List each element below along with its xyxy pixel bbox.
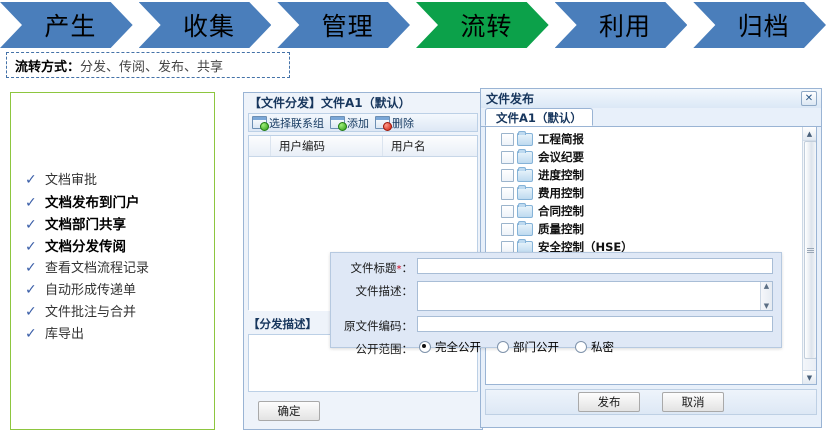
scope-option-部门公开[interactable]: 部门公开 [497, 339, 559, 355]
file-info-form-dialog: 文件标题*： 文件描述： ▲ ▼ 原文件编码： 公开范围： 完全公开部门公开私密 [330, 252, 782, 348]
toolbar-选择联系组[interactable]: 选择联系组 [252, 115, 324, 131]
tree-node[interactable]: 合同控制 [490, 202, 816, 220]
process-step-label: 利用 [599, 7, 651, 43]
file-title-label-text: 文件标题 [351, 261, 397, 275]
user-table-header-username: 用户名 [383, 136, 477, 156]
toolbar-label: 添加 [347, 115, 369, 131]
close-icon[interactable]: ✕ [801, 91, 817, 106]
flow-method-title: 流转方式： [15, 56, 80, 75]
folder-icon [517, 223, 533, 236]
toolbar-label: 删除 [392, 115, 414, 131]
checklist-item-label: 文档分发传阅 [45, 235, 126, 255]
screenshot-root: 产生收集管理流转利用归档 流转方式：分发、传阅、发布、共享 ✓文档审批✓文档发布… [0, 0, 826, 436]
flow-method-detail: 分发、传阅、发布、共享 [80, 56, 223, 75]
scope-option-label: 完全公开 [435, 339, 481, 355]
orig-code-row: 原文件编码： [331, 316, 773, 334]
checklist-item: ✓查看文档流程记录 [25, 257, 215, 279]
desc-scroll-up-icon[interactable]: ▲ [764, 282, 769, 290]
tree-node-label: 进度控制 [538, 167, 584, 183]
process-chevron-bar: 产生收集管理流转利用归档 [0, 2, 826, 48]
checklist-item-label: 文档部门共享 [45, 213, 126, 233]
distribution-footer: 确定 [244, 401, 482, 421]
file-desc-row: 文件描述： ▲ ▼ [331, 281, 773, 311]
checklist-item-label: 文档审批 [45, 169, 97, 188]
radio-icon[interactable] [497, 341, 509, 353]
check-icon: ✓ [25, 282, 45, 298]
checklist-item: ✓文档部门共享 [25, 213, 215, 235]
plus-badge-icon [338, 122, 347, 131]
desc-scroll-down-icon[interactable]: ▼ [764, 302, 769, 310]
toolbar-label: 选择联系组 [269, 115, 324, 131]
tree-node-label: 合同控制 [538, 203, 584, 219]
folder-icon [517, 205, 533, 218]
checklist-item-label: 自动形成传递单 [45, 279, 136, 298]
scope-option-label: 部门公开 [513, 339, 559, 355]
cancel-button[interactable]: 取消 [662, 392, 724, 412]
tree-checkbox[interactable] [501, 187, 514, 200]
remove-badge-icon [383, 122, 392, 131]
checklist-item-label: 文件批注与合并 [45, 301, 136, 320]
tree-node-label: 工程简报 [538, 131, 584, 147]
process-step-3[interactable]: 管理 [277, 2, 410, 48]
file-title-label: 文件标题*： [331, 258, 413, 276]
scope-option-label: 私密 [591, 339, 614, 355]
folder-icon [517, 187, 533, 200]
checklist-item: ✓文档审批 [25, 169, 215, 191]
tab-file-a1[interactable]: 文件A1（默认） [485, 108, 593, 126]
publish-footer: 发布 取消 [485, 389, 817, 415]
tree-checkbox[interactable] [501, 223, 514, 236]
tree-checkbox[interactable] [501, 133, 514, 146]
user-table-header-usercode: 用户编码 [271, 136, 383, 156]
scroll-down-icon[interactable]: ▼ [803, 370, 816, 384]
radio-icon[interactable] [419, 341, 431, 353]
checklist-item-label: 查看文档流程记录 [45, 257, 149, 276]
tree-node[interactable]: 质量控制 [490, 220, 816, 238]
scrollbar-grip [807, 248, 814, 253]
checklist-item: ✓文档分发传阅 [25, 235, 215, 257]
tree-node[interactable]: 费用控制 [490, 184, 816, 202]
scope-radio-group: 完全公开部门公开私密 [419, 339, 614, 355]
tree-node[interactable]: 会议纪要 [490, 148, 816, 166]
tree-checkbox[interactable] [501, 205, 514, 218]
scrollbar-thumb[interactable] [804, 141, 817, 359]
file-publish-title: 文件发布 [486, 90, 534, 107]
process-step-label: 管理 [322, 7, 374, 43]
file-desc-label: 文件描述： [331, 281, 413, 299]
check-icon: ✓ [25, 239, 45, 255]
user-table-header: 用户编码 用户名 [249, 136, 477, 157]
tree-checkbox[interactable] [501, 151, 514, 164]
scope-row: 公开范围： 完全公开部门公开私密 [331, 339, 773, 357]
radio-icon[interactable] [575, 341, 587, 353]
process-step-label: 产生 [44, 7, 96, 43]
process-step-2[interactable]: 收集 [139, 2, 272, 48]
checklist-item: ✓自动形成传递单 [25, 279, 215, 301]
folder-icon [517, 169, 533, 182]
user-table-header-select [249, 136, 271, 156]
check-icon: ✓ [25, 260, 45, 276]
delete-window-icon [375, 116, 390, 129]
check-icon: ✓ [25, 217, 45, 233]
tree-node-label: 会议纪要 [538, 149, 584, 165]
process-step-label: 流转 [460, 7, 512, 43]
add-window-icon [330, 116, 345, 129]
toolbar-删除[interactable]: 删除 [375, 115, 414, 131]
tree-node-label: 质量控制 [538, 221, 584, 237]
process-step-6[interactable]: 归档 [693, 2, 826, 48]
file-publish-tabbar: 文件A1（默认） [481, 108, 821, 127]
feature-checklist: ✓文档审批✓文档发布到门户✓文档部门共享✓文档分发传阅✓查看文档流程记录✓自动形… [25, 169, 215, 345]
tree-node[interactable]: 工程简报 [490, 130, 816, 148]
flow-method-note: 流转方式：分发、传阅、发布、共享 [6, 52, 290, 78]
file-title-row: 文件标题*： [331, 258, 773, 276]
tree-scrollbar[interactable]: ▲ ▼ [802, 127, 816, 384]
scope-option-完全公开[interactable]: 完全公开 [419, 339, 481, 355]
tree-node[interactable]: 进度控制 [490, 166, 816, 184]
scope-label: 公开范围： [331, 339, 413, 357]
toolbar-添加[interactable]: 添加 [330, 115, 369, 131]
checklist-item: ✓库导出 [25, 323, 215, 345]
checklist-item-label: 库导出 [45, 323, 84, 342]
publish-button[interactable]: 发布 [578, 392, 640, 412]
plus-badge-icon [260, 122, 269, 131]
file-distribution-toolbar: 选择联系组添加删除 [248, 113, 478, 132]
scope-option-私密[interactable]: 私密 [575, 339, 614, 355]
file-publish-titlebar: 文件发布 ✕ [481, 89, 821, 108]
check-icon: ✓ [25, 172, 45, 188]
tree-node-label: 费用控制 [538, 185, 584, 201]
orig-code-input[interactable] [417, 316, 773, 332]
process-step-4[interactable]: 流转 [416, 2, 549, 48]
checklist-item: ✓文件批注与合并 [25, 301, 215, 323]
folder-icon [517, 133, 533, 146]
file-title-colon: ： [402, 261, 414, 275]
check-icon: ✓ [25, 304, 45, 320]
scroll-up-icon[interactable]: ▲ [803, 127, 816, 141]
check-icon: ✓ [25, 195, 45, 211]
checklist-item: ✓文档发布到门户 [25, 191, 215, 213]
orig-code-label: 原文件编码： [331, 316, 413, 334]
confirm-button[interactable]: 确定 [258, 401, 320, 421]
tree-checkbox[interactable] [501, 169, 514, 182]
folder-icon [517, 151, 533, 164]
process-step-5[interactable]: 利用 [555, 2, 688, 48]
file-title-input[interactable] [417, 258, 773, 274]
feature-checklist-panel: ✓文档审批✓文档发布到门户✓文档部门共享✓文档分发传阅✓查看文档流程记录✓自动形… [10, 92, 215, 430]
file-distribution-title: 【文件分发】文件A1（默认） [244, 93, 482, 113]
checklist-item-label: 文档发布到门户 [45, 191, 140, 211]
file-desc-textarea[interactable]: ▲ ▼ [417, 281, 773, 311]
add-window-icon [252, 116, 267, 129]
check-icon: ✓ [25, 326, 45, 342]
process-step-label: 收集 [183, 7, 235, 43]
desc-scrollbar[interactable]: ▲ ▼ [760, 282, 772, 310]
process-step-1[interactable]: 产生 [0, 2, 133, 48]
process-step-label: 归档 [738, 7, 790, 43]
